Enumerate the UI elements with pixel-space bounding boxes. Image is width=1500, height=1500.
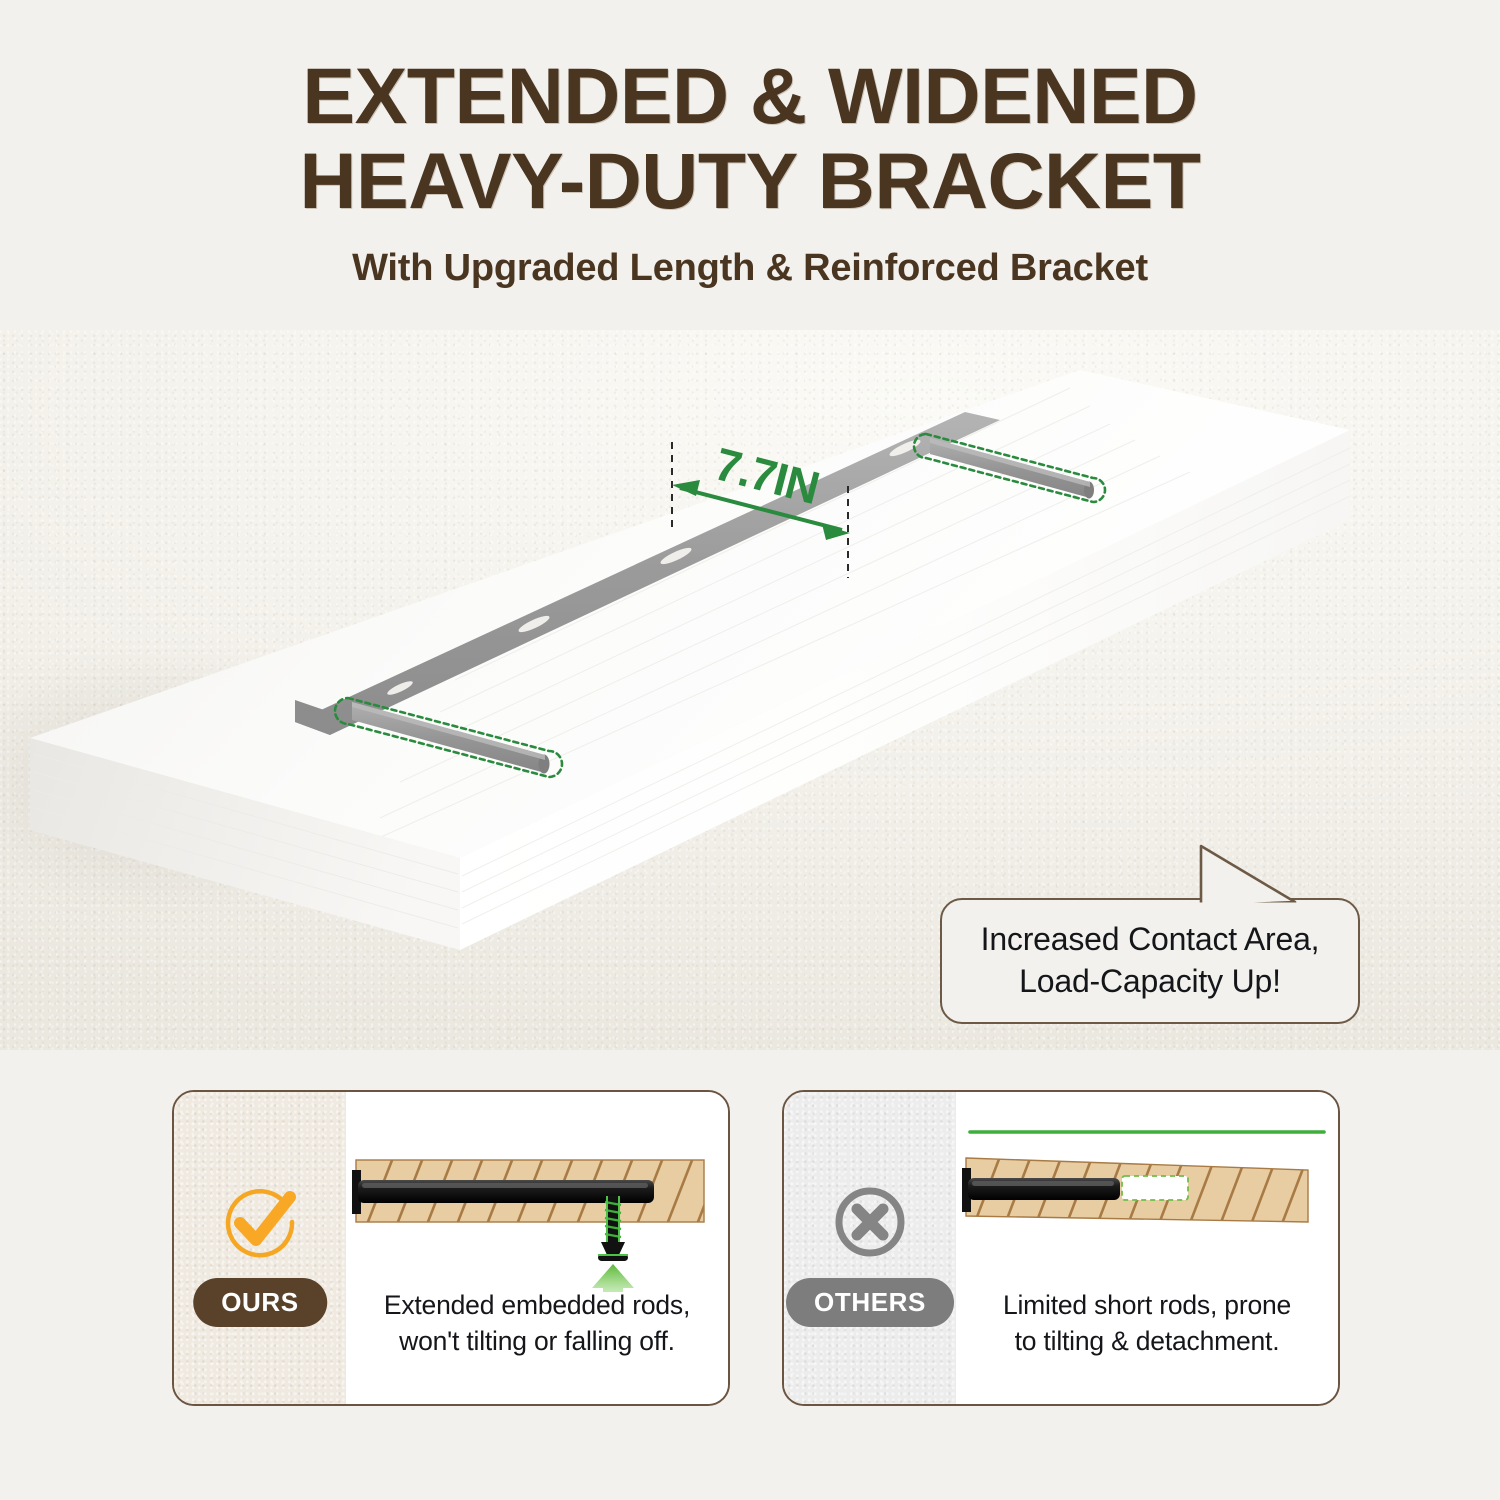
others-cross-section-diagram: [956, 1092, 1338, 1292]
callout-tail-icon: [1183, 840, 1303, 910]
comparison-section: OURS: [0, 1090, 1500, 1420]
headline-line-1: EXTENDED & WIDENED: [302, 51, 1197, 140]
ours-caption: Extended embedded rods, won't tilting or…: [354, 1288, 720, 1359]
comparison-panel-ours: OURS: [172, 1090, 730, 1406]
callout-line-2: Load-Capacity Up!: [1019, 961, 1281, 1003]
dimension-arrow-left: [672, 480, 700, 496]
headline-line-2: HEAVY-DUTY BRACKET: [0, 143, 1500, 219]
others-caption: Limited short rods, prone to tilting & d…: [964, 1288, 1330, 1359]
empty-cavity-highlight: [1122, 1176, 1188, 1200]
ours-label-column: OURS: [174, 1092, 346, 1404]
others-diagram-body: Limited short rods, prone to tilting & d…: [956, 1092, 1338, 1404]
ours-cross-section-diagram: [346, 1092, 728, 1292]
x-circle-icon: [828, 1180, 912, 1264]
ours-caption-line-1: Extended embedded rods,: [354, 1288, 720, 1324]
page-title: EXTENDED & WIDENED HEAVY-DUTY BRACKET: [0, 58, 1500, 219]
others-caption-line-2: to tilting & detachment.: [964, 1324, 1330, 1360]
ours-caption-line-2: won't tilting or falling off.: [354, 1324, 720, 1360]
infographic-root: EXTENDED & WIDENED HEAVY-DUTY BRACKET Wi…: [0, 0, 1500, 1500]
check-circle-icon: [218, 1180, 302, 1264]
others-caption-line-1: Limited short rods, prone: [964, 1288, 1330, 1324]
page-subtitle: With Upgraded Length & Reinforced Bracke…: [0, 247, 1500, 290]
badge-others: OTHERS: [786, 1278, 954, 1327]
comparison-panel-others: OTHERS: [782, 1090, 1340, 1406]
callout-line-1: Increased Contact Area,: [981, 919, 1320, 961]
badge-ours: OURS: [193, 1278, 327, 1327]
ours-diagram-body: Extended embedded rods, won't tilting or…: [346, 1092, 728, 1404]
callout-bubble: Increased Contact Area, Load-Capacity Up…: [940, 898, 1360, 1024]
others-label-column: OTHERS: [784, 1092, 956, 1404]
